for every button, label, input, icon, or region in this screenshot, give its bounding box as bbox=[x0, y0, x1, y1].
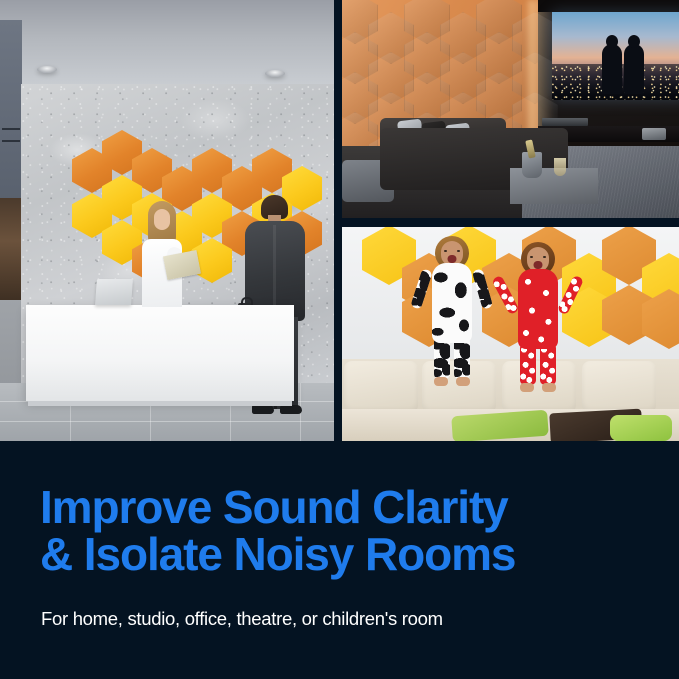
child-leg-right bbox=[540, 343, 556, 385]
theatre-ceiling bbox=[538, 0, 679, 12]
child-leg-left bbox=[434, 337, 450, 379]
woman-face bbox=[154, 209, 170, 230]
photo-children-room bbox=[342, 227, 679, 441]
man-shoe-right bbox=[280, 405, 302, 414]
photo-office-reception bbox=[0, 0, 334, 441]
media-player-icon bbox=[542, 118, 588, 126]
laptop-icon bbox=[95, 279, 133, 305]
photo-home-theatre bbox=[342, 0, 679, 218]
silhouette-figure-left bbox=[602, 44, 622, 94]
child-arm-left bbox=[410, 268, 433, 309]
projector-icon bbox=[642, 128, 666, 140]
child-leg-left bbox=[520, 343, 536, 385]
child-mouth bbox=[448, 255, 457, 263]
child-cow-pyjamas bbox=[412, 241, 492, 391]
child-foot-right bbox=[542, 383, 556, 392]
couple-silhouette bbox=[598, 36, 648, 94]
child-foot-right bbox=[456, 377, 470, 386]
heart-print-onesie bbox=[518, 269, 558, 349]
child-foot-left bbox=[520, 383, 534, 392]
child-foot-left bbox=[434, 377, 448, 386]
receptionist-figure bbox=[139, 201, 185, 307]
reception-desk bbox=[26, 305, 294, 401]
page-subtitle: For home, studio, office, theatre, or ch… bbox=[41, 607, 641, 631]
green-cushion-2 bbox=[610, 415, 672, 441]
child-mouth bbox=[534, 261, 543, 269]
photo-collage bbox=[0, 0, 679, 441]
man-shoe-left bbox=[252, 405, 274, 414]
wine-glass-icon bbox=[554, 158, 566, 176]
silhouette-figure-right bbox=[624, 44, 644, 94]
child-eyes bbox=[530, 256, 546, 258]
promo-banner-page: Improve Sound Clarity & Isolate Noisy Ro… bbox=[0, 0, 679, 679]
child-arm-right bbox=[472, 268, 494, 309]
child-leg-right bbox=[454, 337, 470, 379]
page-title: Improve Sound Clarity & Isolate Noisy Ro… bbox=[40, 484, 640, 578]
sofa-cushion-1 bbox=[344, 361, 418, 413]
cow-print-onesie bbox=[432, 263, 472, 343]
spotlight-icon bbox=[265, 70, 285, 77]
sofa-cushion-4 bbox=[582, 361, 656, 413]
projection-screen bbox=[552, 12, 679, 100]
spotlight-icon bbox=[37, 66, 57, 73]
green-cushion-1 bbox=[451, 410, 549, 441]
child-eyes bbox=[444, 250, 460, 252]
child-heart-pyjamas bbox=[498, 247, 578, 397]
